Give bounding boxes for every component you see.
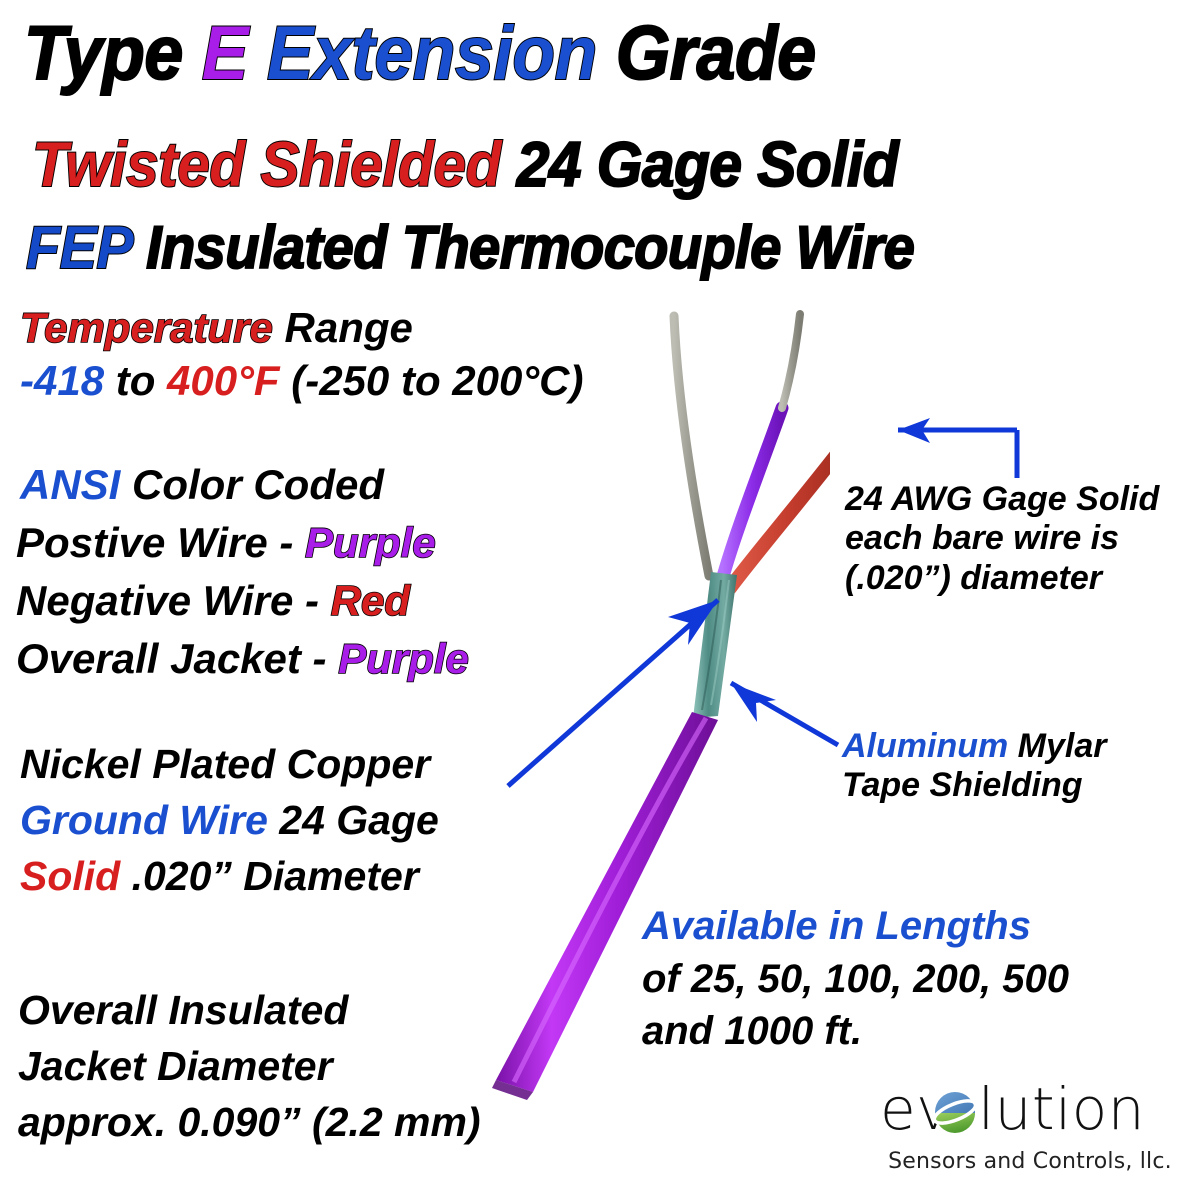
available-lengths-line-3: and 1000 ft. xyxy=(642,1010,862,1053)
bare-wire-annotation-line-1: 24 AWG Gage Solid xyxy=(845,480,1159,519)
shielding-aluminum-label: Aluminum xyxy=(842,727,1008,765)
bare-wire-annotation-line-3: (.020”) diameter xyxy=(845,559,1159,598)
available-lengths-title: Available in Lengths xyxy=(642,905,1031,948)
logo-word-suffix: lution xyxy=(978,1075,1145,1143)
shielding-annotation-line-2: Tape Shielding xyxy=(842,766,1106,805)
shielding-annotation-line-1: Aluminum Mylar xyxy=(842,727,1106,766)
logo-sphere-icon xyxy=(932,1089,978,1135)
bare-wire-annotation: 24 AWG Gage Solid each bare wire is (.02… xyxy=(845,480,1159,598)
shielding-mylar-label: Mylar xyxy=(1008,727,1106,765)
thermocouple-wire-infographic: Type E Extension Grade Twisted Shielded … xyxy=(0,0,1200,1200)
bare-wire-annotation-line-2: each bare wire is xyxy=(845,519,1159,558)
shielding-annotation: Aluminum Mylar Tape Shielding xyxy=(842,727,1106,806)
available-lengths-heading: Available in Lengths xyxy=(642,904,1031,948)
annotation-arrows xyxy=(0,0,1200,1200)
logo-tagline: Sensors and Controls, llc. xyxy=(880,1149,1180,1174)
available-lengths-line-2: of 25, 50, 100, 200, 500 xyxy=(642,958,1069,1001)
company-logo: ev lution Sensors and C xyxy=(880,1075,1180,1185)
ground-wire-arrow xyxy=(508,600,718,786)
shield-arrow xyxy=(731,683,838,745)
bare-wire-arrow xyxy=(898,418,1017,478)
